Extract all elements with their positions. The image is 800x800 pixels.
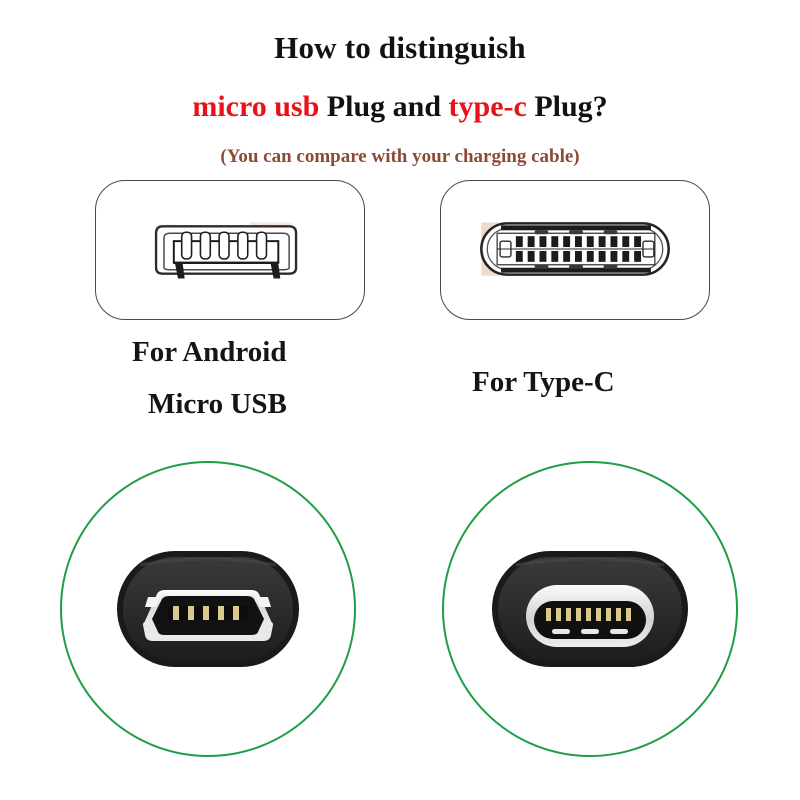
page-hint-text: (You can compare with your charging cabl…	[0, 146, 800, 169]
type-c-port-photo	[442, 461, 738, 757]
caption-for-type-c: For Type-C	[472, 368, 615, 397]
page-subtitle-headline: micro usb Plug and type-c Plug?	[0, 90, 800, 125]
headline-plain-and: Plug and	[319, 90, 448, 123]
headline-highlight-type-c: type-c	[449, 90, 527, 123]
headline-highlight-micro-usb: micro usb	[192, 90, 319, 123]
type-c-photo-circle	[442, 461, 738, 757]
type-c-diagram-panel	[440, 180, 710, 320]
micro-usb-connector-icon	[96, 181, 364, 319]
micro-usb-photo-circle	[60, 461, 356, 757]
type-c-connector-icon	[441, 181, 709, 319]
caption-micro-usb: Micro USB	[148, 390, 287, 419]
page-title: How to distinguish	[0, 30, 800, 66]
infographic-page: How to distinguish micro usb Plug and ty…	[0, 0, 800, 800]
micro-usb-port-photo	[60, 461, 356, 757]
micro-usb-diagram-panel	[95, 180, 365, 320]
headline-plain-plug: Plug?	[527, 90, 608, 123]
caption-for-android: For Android	[132, 338, 286, 367]
